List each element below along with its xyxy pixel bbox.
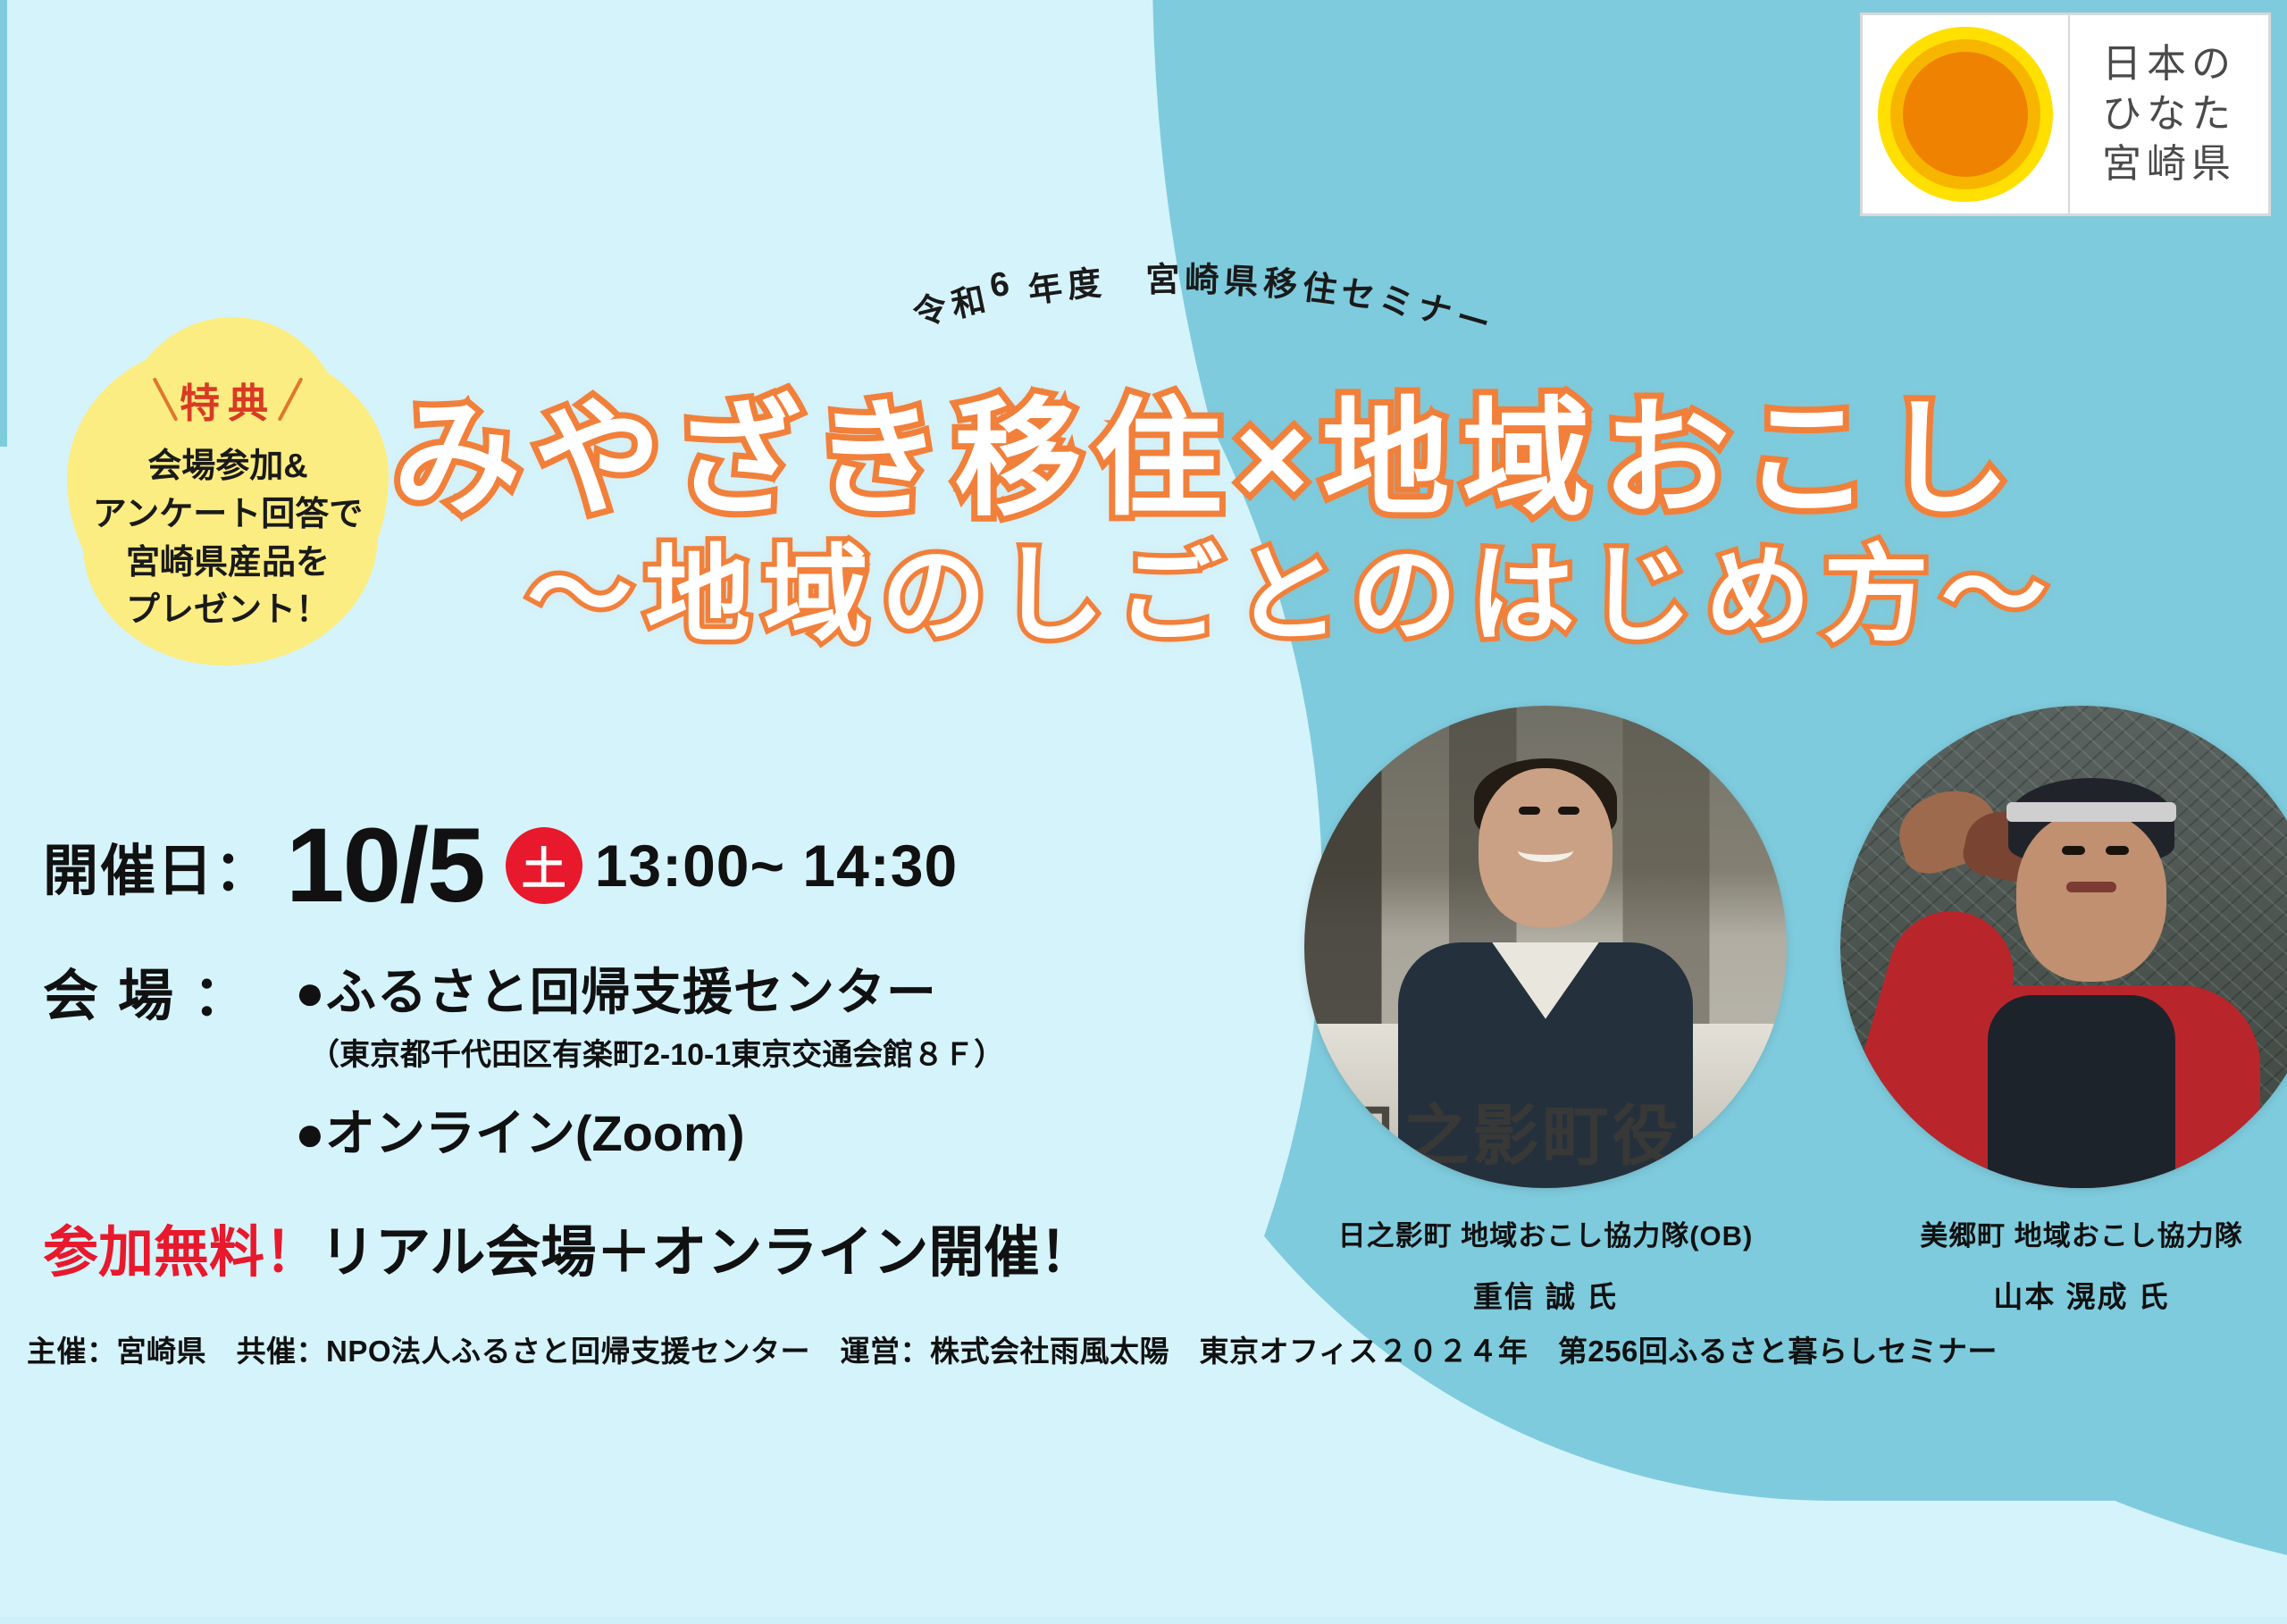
- poster-root: 日本の ひなた 宮崎県 特典 会場参加& アンケート回答で 宮崎県産品を プレゼ…: [0, 0, 2287, 1624]
- eyebrow-char: 6: [987, 265, 1012, 306]
- benefit-badge: 特典 会場参加& アンケート回答で 宮崎県産品を プレゼント！: [67, 317, 389, 673]
- eyebrow-char: 崎: [1185, 252, 1219, 302]
- venue-row: 会場： ●ふるさと回帰支援センター （東京都千代田区有楽町2-10-1東京交通会…: [43, 950, 1311, 1166]
- background-pale-overlay: [0, 0, 1322, 1624]
- free-admission-row: 参加無料！リアル会場＋オンライン開催！: [43, 1207, 1311, 1287]
- eyebrow-char: 和: [946, 272, 990, 327]
- background-teal-left-strip: [0, 0, 7, 447]
- logo-line-2: ひなた: [2102, 89, 2236, 139]
- venue-option-1: ●ふるさと回帰支援センター: [295, 952, 1004, 1025]
- speaker-name: 重信 誠 氏: [1304, 1273, 1787, 1316]
- eyebrow-char: [1106, 254, 1118, 293]
- eyebrow-char: 宮: [1145, 252, 1180, 302]
- eyebrow-char: ナ: [1413, 280, 1458, 336]
- badge-line-1: 会場参加&: [93, 443, 363, 491]
- eyebrow-char: ー: [1451, 289, 1497, 345]
- eyebrow-char: 度: [1065, 255, 1103, 307]
- page-subtitle: 〜地域のしごとのはじめ方〜: [527, 509, 2059, 662]
- speaker-card: 美郷町 地域おこし協力隊 山本 滉成 氏: [1840, 706, 2287, 1316]
- event-info: 開催日： 10/5 土 13:00~ 14:30 会場： ●ふるさと回帰支援セン…: [43, 813, 1311, 1287]
- sun-icon: [1863, 15, 2070, 213]
- eyebrow-char: セ: [1337, 264, 1379, 319]
- eyebrow-char: 移: [1261, 255, 1300, 306]
- eyebrow-arc-text: 令和6年度 宮崎県移住セミナー: [853, 261, 1514, 359]
- logo-text: 日本の ひなた 宮崎県: [2070, 15, 2268, 213]
- time-value: 13:00~ 14:30: [595, 832, 959, 900]
- badge-line-2: アンケート回答で: [93, 491, 363, 540]
- eyebrow-char: 年: [1025, 259, 1065, 313]
- eyebrow-char: 令: [907, 280, 951, 336]
- speaker-photo: [1840, 706, 2287, 1188]
- badge-line-4: プレゼント！: [93, 587, 363, 635]
- prefecture-logo: 日本の ひなた 宮崎県: [1860, 13, 2271, 216]
- speaker-org: 美郷町 地域おこし協力隊: [1840, 1213, 2287, 1253]
- footer-credits: 主催：宮崎県 共催：NPO法人ふるさと回帰支援センター 運営：株式会社雨風太陽 …: [27, 1327, 1998, 1370]
- background-teal-bottom-strip: [0, 1617, 2287, 1624]
- date-value: 10/5: [286, 813, 484, 918]
- eyebrow-char: ミ: [1376, 271, 1419, 326]
- badge-heading: 特典: [180, 371, 276, 429]
- logo-line-1: 日本の: [2102, 39, 2236, 89]
- eyebrow-char: 住: [1300, 259, 1340, 312]
- eyebrow-char: 県: [1223, 253, 1260, 304]
- speaker-list: 日之影町役 日之影町 地域おこし協力隊(OB) 重信 誠 氏 美郷町 地域おこし…: [1304, 706, 2287, 1316]
- speaker-org: 日之影町 地域おこし協力隊(OB): [1304, 1213, 1787, 1253]
- free-admission-detail: リアル会場＋オンライン開催！: [320, 1222, 1094, 1284]
- speaker-name: 山本 滉成 氏: [1840, 1273, 2287, 1316]
- venue-option-2: ●オンライン(Zoom): [295, 1093, 1004, 1166]
- free-admission-highlight: 参加無料！: [43, 1222, 320, 1284]
- badge-body: 会場参加& アンケート回答で 宮崎県産品を プレゼント！: [93, 443, 363, 636]
- day-badge: 土: [506, 827, 582, 904]
- venue-address: （東京都千代田区有楽町2-10-1東京交通会館８Ｆ）: [309, 1030, 1004, 1074]
- badge-heading-row: 特典: [163, 371, 292, 429]
- photo-signboard-text: 日之影町役: [1333, 1083, 1681, 1178]
- slash-left-icon: [153, 377, 179, 422]
- speaker-card: 日之影町役 日之影町 地域おこし協力隊(OB) 重信 誠 氏: [1304, 706, 1787, 1316]
- slash-right-icon: [278, 377, 304, 422]
- speaker-photo: 日之影町役: [1304, 706, 1787, 1188]
- date-row: 開催日： 10/5 土 13:00~ 14:30: [43, 813, 1311, 918]
- logo-line-3: 宮崎県: [2102, 139, 2236, 189]
- venue-label: 会場：: [43, 950, 295, 1166]
- date-label: 開催日：: [43, 825, 272, 906]
- badge-line-3: 宮崎県産品を: [93, 540, 363, 588]
